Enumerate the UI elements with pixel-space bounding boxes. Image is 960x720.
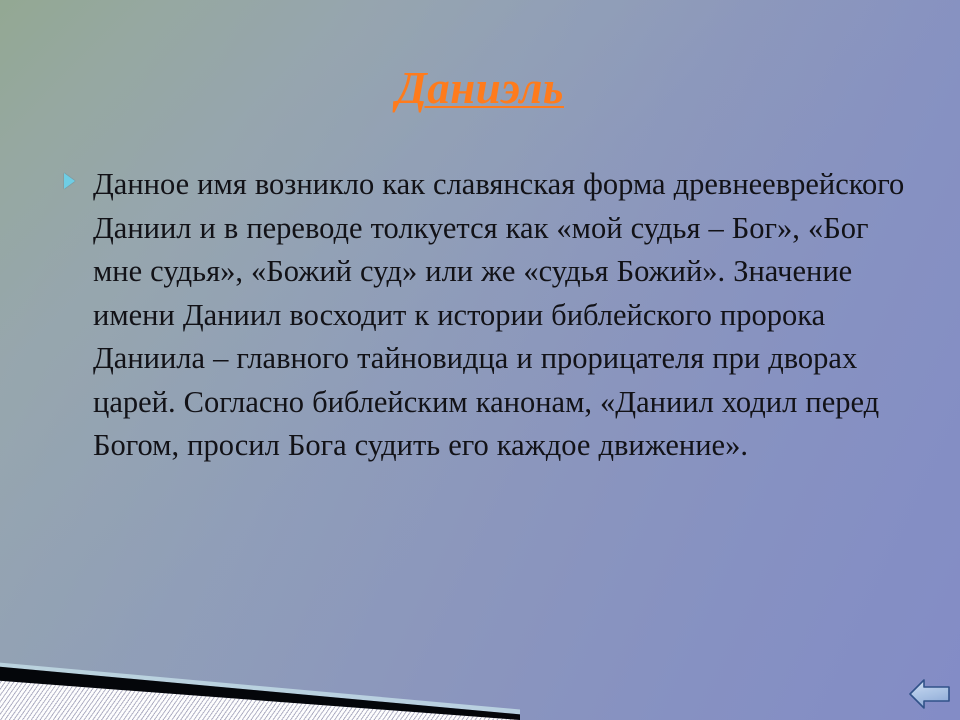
decorative-corner-band (0, 580, 520, 720)
dark-diagonal-stripe-decoration (0, 580, 520, 720)
bullet-item-text: Данное имя возникло как славянская форма… (93, 163, 907, 468)
triangle-bullet-icon (64, 173, 75, 189)
slide-title: Даниэль (0, 62, 960, 114)
arrow-left-icon (907, 674, 953, 714)
highlight-stripe-decoration (0, 580, 520, 720)
back-navigation-button[interactable] (907, 674, 953, 714)
hatched-triangle-decoration (0, 580, 520, 720)
slide-body: Данное имя возникло как славянская форма… (62, 163, 907, 468)
slide-canvas: Даниэль Данное имя возникло как славянск… (0, 0, 960, 720)
bullet-item: Данное имя возникло как славянская форма… (62, 163, 907, 468)
